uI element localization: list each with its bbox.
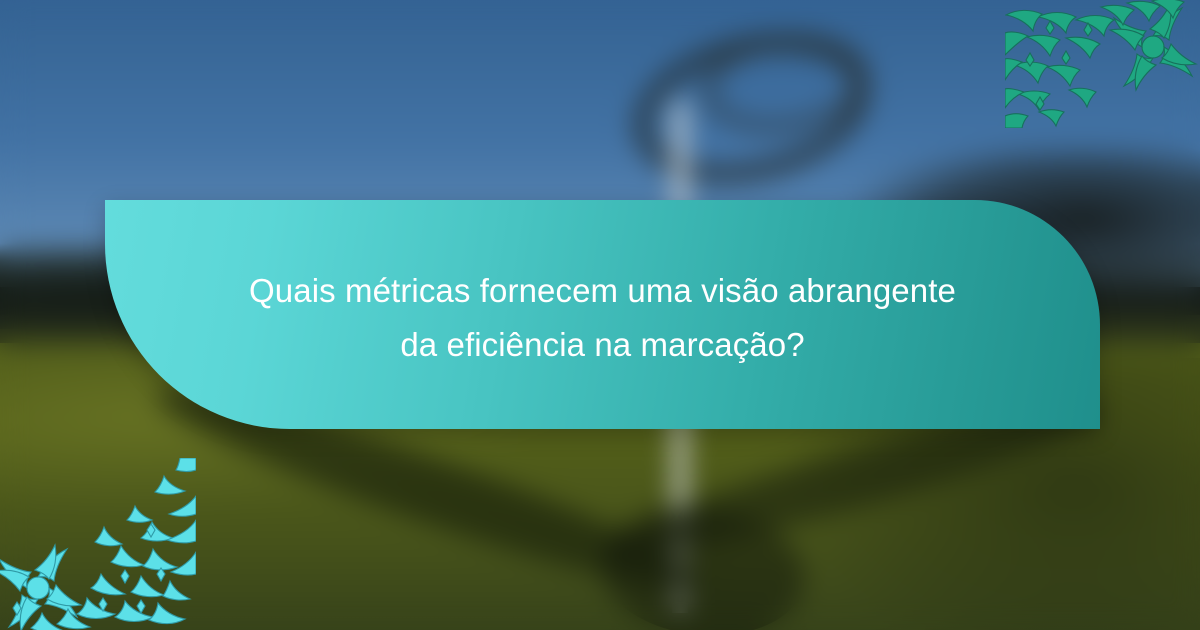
question-banner: Quais métricas fornecem uma visão abrang…	[105, 200, 1100, 429]
social-card-canvas: Quais métricas fornecem uma visão abrang…	[0, 0, 1200, 630]
question-text: Quais métricas fornecem uma visão abrang…	[243, 264, 963, 371]
